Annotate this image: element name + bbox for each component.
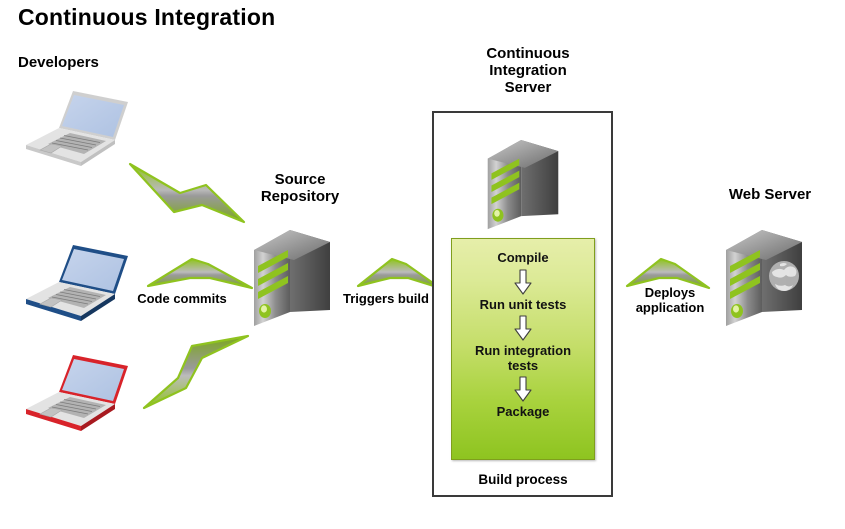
- build-step-package: Package: [458, 405, 588, 420]
- diagram-canvas: Continuous Integration Developers: [0, 0, 845, 529]
- build-arrow-2-icon: [513, 315, 533, 341]
- ci-server-label-line2: Integration: [443, 63, 613, 80]
- ci-server-label-line1: Continuous: [443, 46, 613, 63]
- web-server-label: Web Server: [700, 187, 840, 204]
- laptop-blue: [18, 238, 134, 326]
- source-repository-label-line2: Repository: [238, 189, 362, 206]
- code-commits-label: Code commits: [126, 292, 238, 307]
- build-arrow-3-icon: [513, 376, 533, 402]
- build-step-run-unit-tests: Run unit tests: [458, 298, 588, 313]
- ci-server-label-line3: Server: [443, 80, 613, 97]
- build-step-3-line2: tests: [458, 359, 588, 374]
- ci-server-label: Continuous Integration Server: [443, 46, 613, 96]
- web-server-icon: [722, 216, 806, 328]
- bolt-arrow-commit-bottom: [142, 332, 252, 412]
- globe-icon: [769, 261, 799, 291]
- build-step-3-line1: Run integration: [458, 344, 588, 359]
- deploys-application-line1: Deploys: [618, 286, 722, 301]
- build-step-run-integration-tests: Run integration tests: [458, 344, 588, 373]
- build-arrow-1-icon: [513, 269, 533, 295]
- bolt-arrow-commit-top: [128, 160, 248, 230]
- source-repository-label: Source Repository: [238, 172, 362, 206]
- build-process-label: Build process: [440, 472, 606, 488]
- triggers-build-label: Triggers build: [330, 292, 442, 307]
- deploys-application-line2: application: [618, 301, 722, 316]
- developers-label: Developers: [18, 55, 99, 72]
- laptop-silver: [18, 84, 134, 172]
- source-repository-server-icon: [250, 216, 334, 328]
- ci-server-icon: [483, 127, 563, 231]
- laptop-red: [18, 348, 134, 436]
- deploys-application-label: Deploys application: [618, 286, 722, 316]
- source-repository-label-line1: Source: [238, 172, 362, 189]
- build-step-compile: Compile: [458, 251, 588, 266]
- build-process-box: Compile Run unit tests Run integration t…: [451, 238, 595, 460]
- page-title: Continuous Integration: [18, 4, 275, 31]
